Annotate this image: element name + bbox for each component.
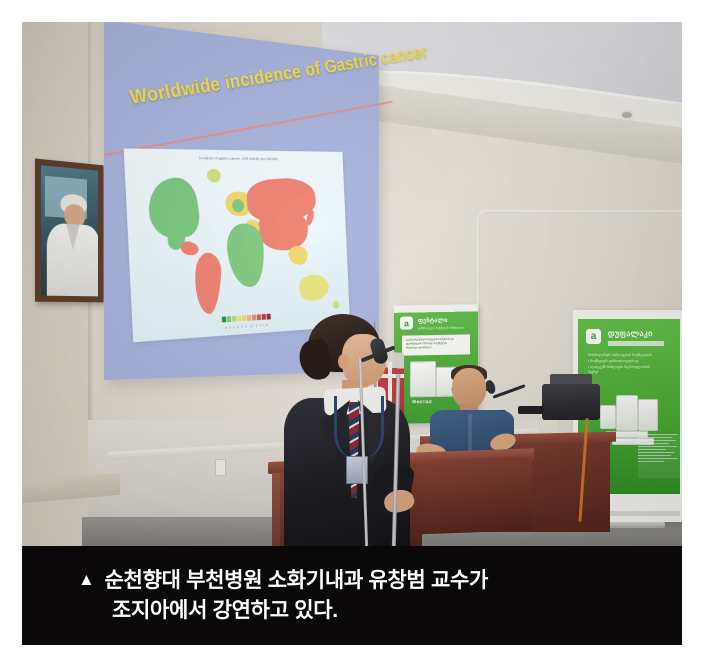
caption-line-1: ▲순천향대 부천병원 소화기내과 유창범 교수가	[78, 566, 682, 596]
portrait-image	[41, 165, 98, 296]
map-legend-swatch	[232, 316, 236, 322]
map-legend-swatch	[262, 314, 266, 320]
map-legend-swatch	[267, 314, 271, 320]
map-region-australia	[298, 273, 330, 302]
banner-right-headline: დუფალაკი	[608, 329, 653, 338]
framed-portrait	[35, 158, 104, 302]
recessed-downlight-icon	[622, 112, 632, 118]
lecturing-professor	[280, 314, 420, 546]
microphone-base	[518, 406, 544, 414]
av-equipment	[542, 384, 600, 420]
triangle-marker-icon: ▲	[78, 568, 95, 592]
photo-caption-bar: ▲순천향대 부천병원 소화기내과 유창범 교수가 조지아에서 강연하고 있다.	[22, 546, 682, 645]
map-legend-swatch	[227, 316, 231, 322]
map-legend-swatch	[252, 315, 256, 321]
banner-left-subhead: ჯანმრთელი საჭმლის მონელება	[418, 326, 464, 331]
banner-left-headline: ფესტალი	[418, 317, 448, 325]
banner-right-product-bottle-2	[616, 395, 638, 431]
map-region-asia	[258, 208, 308, 251]
map-region-new-zealand	[332, 300, 339, 308]
light-switch-icon	[215, 459, 226, 476]
map-legend-swatch	[237, 316, 241, 322]
banner-right-product-bottle-3	[638, 399, 658, 431]
podium-edge-highlight	[272, 473, 280, 546]
seated-face	[452, 368, 486, 408]
map-region-south-america	[193, 252, 222, 315]
banner-right-body-text: ნორმალიზებს ნაწლავების მოქმედებას • მოქმ…	[588, 353, 676, 376]
banner-right-tagline-bar	[608, 341, 664, 346]
slide-accent-line	[105, 101, 393, 156]
banner-right-product-bottle-1	[600, 405, 616, 429]
slide-title: Worldwide incidence of Gastric cancer	[128, 49, 386, 110]
map-region-greenland	[207, 169, 221, 182]
abbott-logo-icon: a	[586, 329, 601, 344]
map-caption: Incidence of gastric cancer, ASR (world)…	[199, 156, 278, 161]
map-legend	[222, 314, 271, 323]
map-legend-swatch	[222, 317, 226, 323]
map-legend-values: 3.3 5.5 8.0 11.2 17.6	[225, 323, 268, 330]
map-region-western-europe	[232, 199, 244, 212]
map-legend-swatch	[242, 315, 246, 321]
caption-line-1-text: 순천향대 부천병원 소화기내과 유창범 교수가	[105, 569, 489, 592]
news-photo-card: Worldwide incidence of Gastric cancer In…	[0, 0, 704, 658]
map-region-central-america	[179, 239, 199, 258]
caption-line-2: 조지아에서 강연하고 있다.	[78, 596, 682, 626]
banner-right-fineprint	[638, 434, 682, 478]
speaker-lanyard	[334, 396, 384, 458]
map-region-southeast-asia	[287, 244, 308, 266]
banner-left-top-strip	[394, 304, 478, 312]
map-legend-swatch	[257, 314, 261, 320]
speaker-ear	[338, 354, 349, 369]
conference-photo: Worldwide incidence of Gastric cancer In…	[22, 22, 682, 546]
map-legend-swatch	[247, 315, 251, 321]
